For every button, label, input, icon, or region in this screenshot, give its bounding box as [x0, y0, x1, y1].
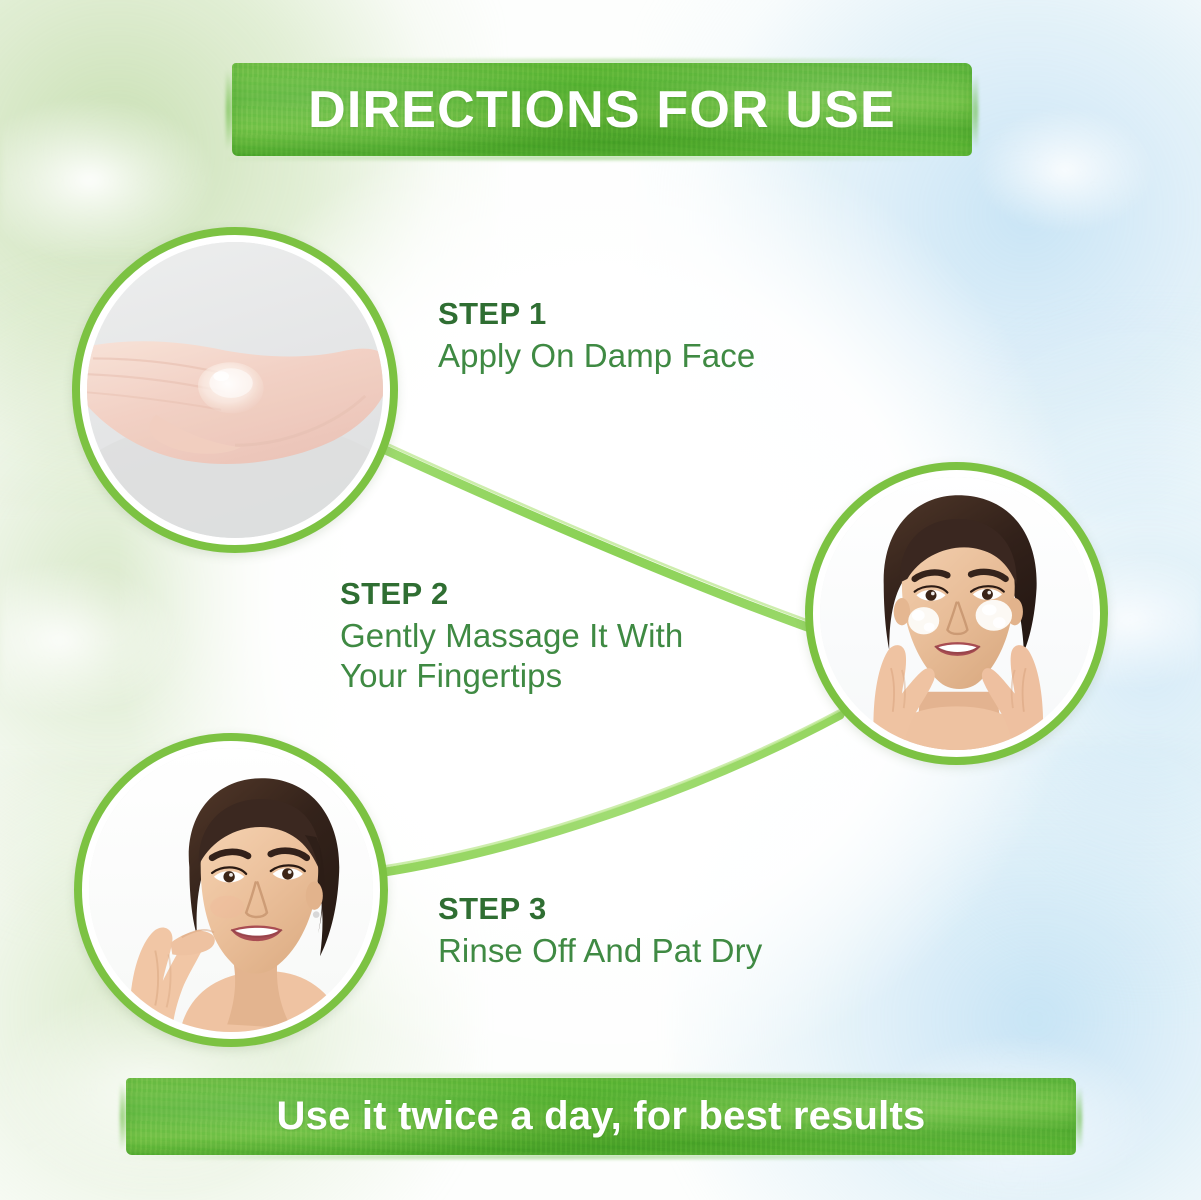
- step-1-text-block: STEP 1 Apply On Damp Face: [438, 298, 755, 376]
- step-2-description-line-1: Gently Massage It With: [340, 616, 683, 657]
- step-3-photo-circle: [74, 733, 388, 1047]
- step-1-description: Apply On Damp Face: [438, 336, 755, 377]
- step-2-photo-circle: [805, 462, 1108, 765]
- connector-step2-to-step3-highlight: [374, 709, 842, 868]
- step-2-description-line-2: Your Fingertips: [340, 656, 683, 697]
- page-title-banner: DIRECTIONS FOR USE: [232, 63, 972, 156]
- connector-step2-to-step3: [372, 715, 840, 874]
- infographic-canvas: DIRECTIONS FOR USE: [0, 0, 1201, 1200]
- step-2-number: STEP 2: [340, 578, 683, 611]
- step-3-photo-clean-face: [89, 748, 373, 1032]
- step-2-text-block: STEP 2 Gently Massage It With Your Finge…: [340, 578, 683, 697]
- page-title: DIRECTIONS FOR USE: [308, 80, 896, 140]
- step-1-photo-hand-with-product: [87, 242, 383, 538]
- step-2-photo-massaging-face: [820, 477, 1093, 750]
- step-3-description: Rinse Off And Pat Dry: [438, 931, 762, 972]
- step-3-text-block: STEP 3 Rinse Off And Pat Dry: [438, 893, 762, 971]
- footer-tip-text: Use it twice a day, for best results: [277, 1094, 926, 1139]
- footer-tip-banner: Use it twice a day, for best results: [126, 1078, 1076, 1155]
- step-1-photo-circle: [72, 227, 398, 553]
- step-1-number: STEP 1: [438, 298, 755, 331]
- step-3-number: STEP 3: [438, 893, 762, 926]
